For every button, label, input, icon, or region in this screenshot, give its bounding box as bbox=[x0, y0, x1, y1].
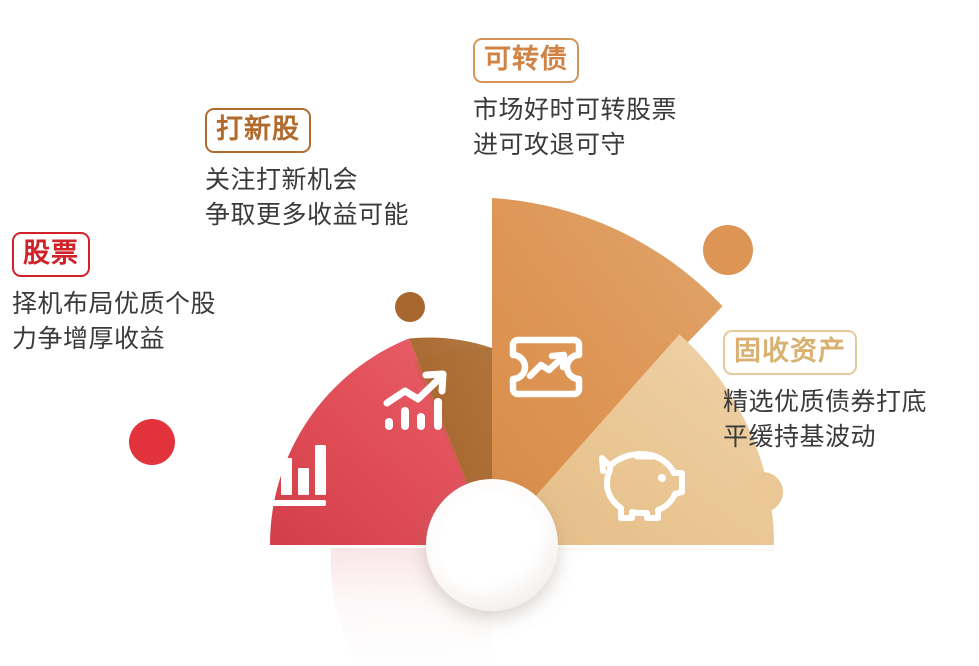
desc-stock: 择机布局优质个股 力争增厚收益 bbox=[12, 287, 216, 356]
desc-new-share: 关注打新机会 争取更多收益可能 bbox=[205, 163, 409, 232]
tag-fixed-income[interactable]: 固收资产 bbox=[723, 330, 857, 375]
desc-convertible-bond-line2: 进可攻退可守 bbox=[473, 128, 677, 163]
desc-new-share-line2: 争取更多收益可能 bbox=[205, 198, 409, 233]
desc-fixed-income: 精选优质债券打底 平缓持基波动 bbox=[723, 385, 927, 454]
desc-stock-line1: 择机布局优质个股 bbox=[12, 287, 216, 322]
desc-fixed-income-line1: 精选优质债券打底 bbox=[723, 385, 927, 420]
desc-fixed-income-line2: 平缓持基波动 bbox=[723, 420, 927, 455]
desc-new-share-line1: 关注打新机会 bbox=[205, 163, 409, 198]
dot-brown bbox=[395, 292, 425, 322]
desc-convertible-bond-line1: 市场好时可转股票 bbox=[473, 93, 677, 128]
tag-new-share[interactable]: 打新股 bbox=[205, 108, 311, 153]
label-group-convertible-bond: 可转债 市场好时可转股票 进可攻退可守 bbox=[473, 38, 677, 162]
label-group-new-share: 打新股 关注打新机会 争取更多收益可能 bbox=[205, 108, 409, 232]
tag-stock[interactable]: 股票 bbox=[12, 232, 90, 277]
tag-convertible-bond[interactable]: 可转债 bbox=[473, 38, 579, 83]
infographic-canvas: 股票 择机布局优质个股 力争增厚收益 打新股 关注打新机会 争取更多收益可能 可… bbox=[0, 0, 979, 666]
label-group-fixed-income: 固收资产 精选优质债券打底 平缓持基波动 bbox=[723, 330, 927, 454]
dot-orange bbox=[703, 225, 753, 275]
dot-red bbox=[129, 419, 175, 465]
label-group-stock: 股票 择机布局优质个股 力争增厚收益 bbox=[12, 232, 216, 356]
center-hub[interactable] bbox=[426, 479, 558, 611]
desc-convertible-bond: 市场好时可转股票 进可攻退可守 bbox=[473, 93, 677, 162]
desc-stock-line2: 力争增厚收益 bbox=[12, 322, 216, 357]
dot-light-tan bbox=[743, 472, 783, 512]
